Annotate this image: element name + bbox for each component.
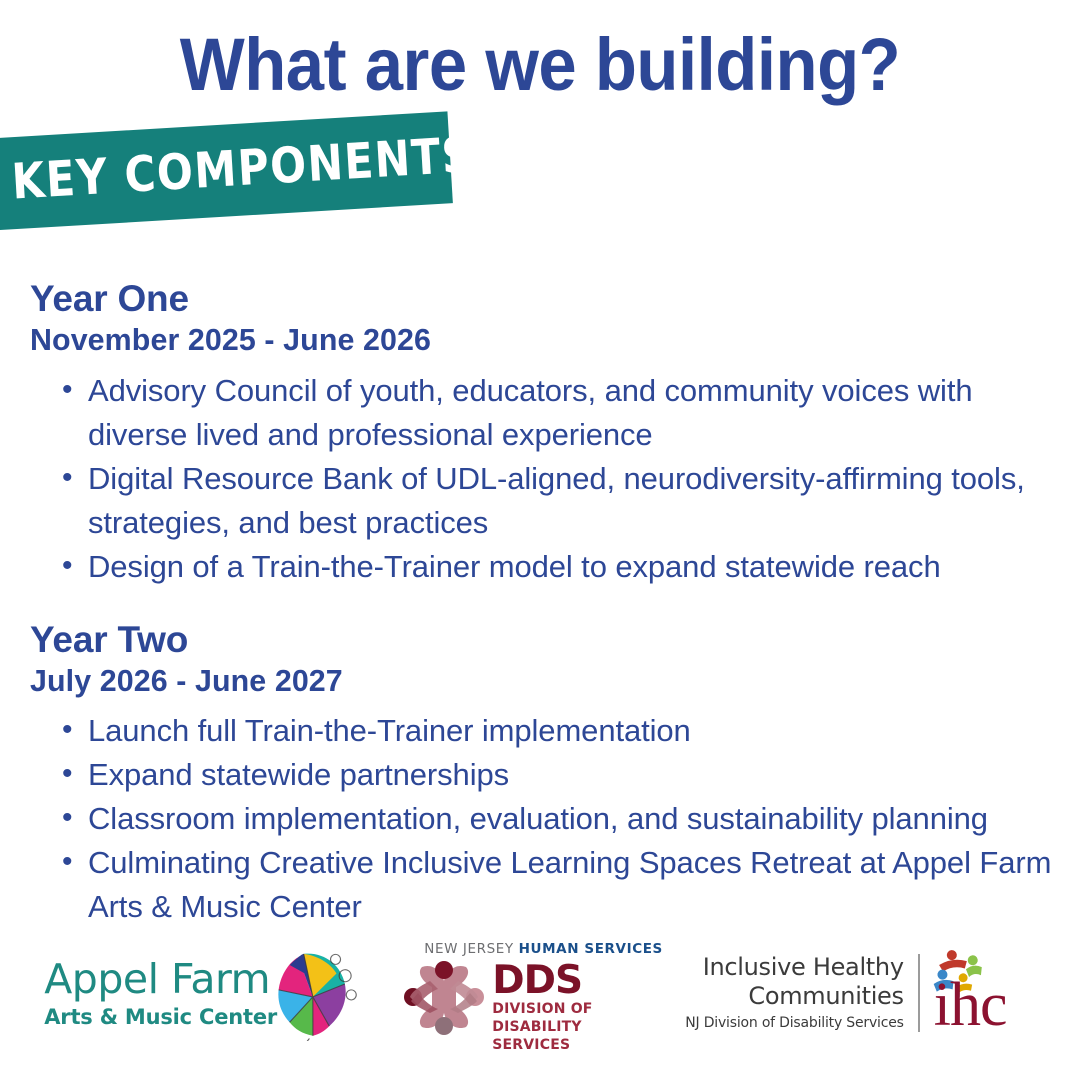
ihc-logo: Inclusive Healthy Communities NJ Divisio… bbox=[685, 945, 1047, 1041]
section-heading: Year One bbox=[30, 278, 1060, 319]
page-title: What are we building? bbox=[38, 26, 1042, 104]
bullet-list-year-two: Launch full Train-the-Trainer implementa… bbox=[30, 709, 1060, 929]
section-year-two: Year Two July 2026 - June 2027 Launch fu… bbox=[30, 619, 1060, 930]
ihc-line-1: Inclusive Healthy bbox=[685, 953, 903, 982]
ihc-wordmark: Inclusive Healthy Communities NJ Divisio… bbox=[685, 953, 917, 1033]
logo-row: Appel Farm Arts & Music Center bbox=[0, 938, 1080, 1048]
section-heading: Year Two bbox=[30, 619, 1060, 660]
section-dates: November 2025 - June 2026 bbox=[30, 320, 1039, 360]
dds-human-services-label: HUMAN SERVICES bbox=[519, 941, 663, 957]
dds-state-label: NEW JERSEY bbox=[424, 941, 518, 957]
ihc-line-3: NJ Division of Disability Services bbox=[685, 1013, 903, 1033]
dds-wordmark: DDS DIVISION OF DISABILITY SERVICES bbox=[492, 961, 592, 1053]
list-item: Expand statewide partnerships bbox=[30, 753, 1060, 797]
list-item: Launch full Train-the-Trainer implementa… bbox=[30, 709, 1060, 753]
section-dates: July 2026 - June 2027 bbox=[30, 661, 1039, 701]
dds-division-line-3: SERVICES bbox=[492, 1038, 592, 1053]
list-item: Culminating Creative Inclusive Learning … bbox=[30, 841, 1060, 929]
ihc-abbreviation: ihc bbox=[934, 976, 1007, 1034]
section-year-one: Year One November 2025 - June 2026 Advis… bbox=[30, 278, 1060, 589]
key-components-banner: KEY COMPONENTS bbox=[0, 111, 453, 232]
appel-farm-logo: Appel Farm Arts & Music Center bbox=[32, 945, 362, 1041]
dds-body: DDS DIVISION OF DISABILITY SERVICES bbox=[402, 961, 637, 1053]
appel-farm-subtitle: Arts & Music Center bbox=[44, 1004, 277, 1030]
four-people-circle-icon bbox=[402, 961, 486, 1035]
bullet-list-year-one: Advisory Council of youth, educators, an… bbox=[30, 369, 1060, 589]
list-item: Design of a Train-the-Trainer model to e… bbox=[30, 545, 1060, 589]
dds-division-line-1: DIVISION OF bbox=[492, 1002, 592, 1017]
ihc-mark: ihc bbox=[928, 948, 1048, 1038]
list-item: Advisory Council of youth, educators, an… bbox=[30, 369, 1060, 457]
list-item: Digital Resource Bank of UDL-aligned, ne… bbox=[30, 457, 1060, 545]
dds-abbreviation: DDS bbox=[492, 963, 592, 999]
ihc-line-2: Communities bbox=[685, 982, 903, 1011]
dds-division-line-2: DISABILITY bbox=[492, 1020, 592, 1035]
content-body: Year One November 2025 - June 2026 Advis… bbox=[30, 278, 1060, 939]
colorful-leaf-icon bbox=[266, 945, 358, 1041]
nj-dds-logo: NEW JERSEY HUMAN SERVICES DDS DIVISION O… bbox=[402, 941, 637, 1045]
list-item: Classroom implementation, evaluation, an… bbox=[30, 797, 1060, 841]
section-spacer bbox=[30, 599, 1060, 619]
appel-farm-name: Appel Farm bbox=[44, 956, 277, 1002]
ihc-divider bbox=[918, 954, 920, 1032]
dds-department-line: NEW JERSEY HUMAN SERVICES bbox=[424, 941, 637, 957]
appel-farm-wordmark: Appel Farm Arts & Music Center bbox=[44, 956, 277, 1030]
